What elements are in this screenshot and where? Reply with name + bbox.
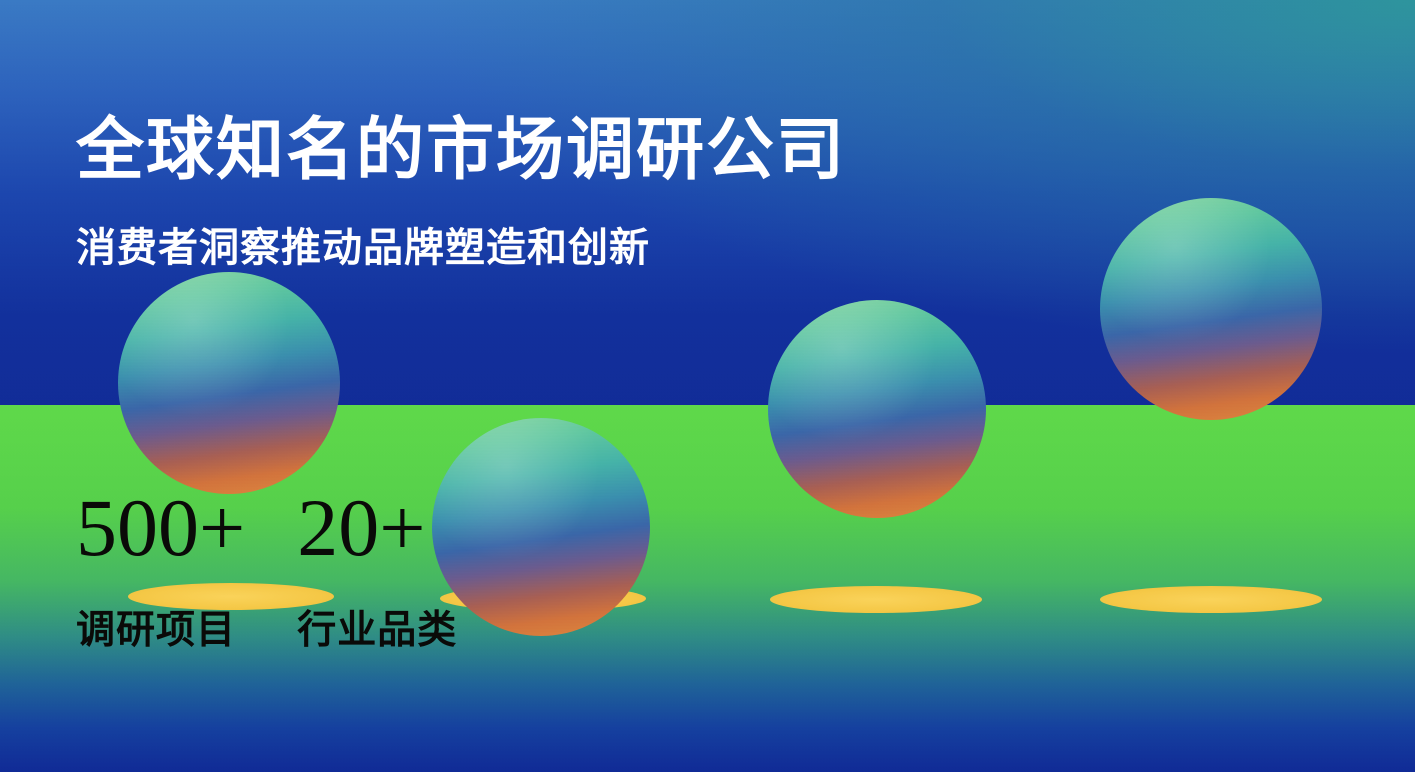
sphere-shadow-ellipse bbox=[128, 583, 334, 610]
decorative-sphere bbox=[768, 300, 986, 518]
marketing-hero-banner: 全球知名的市场调研公司 消费者洞察推动品牌塑造和创新 500+ 调研项目 20+… bbox=[0, 0, 1415, 772]
stats-group: 500+ 调研项目 20+ 行业品类 bbox=[76, 482, 426, 574]
stat-value: 500+ bbox=[76, 482, 245, 574]
decorative-sphere bbox=[1100, 198, 1322, 420]
decorative-sphere bbox=[432, 418, 650, 636]
sphere-shadow-ellipse bbox=[770, 586, 982, 613]
stat-value: 20+ bbox=[297, 482, 425, 574]
decorative-sphere bbox=[118, 272, 340, 494]
stat-label: 调研项目 bbox=[76, 608, 236, 654]
stat-label: 行业品类 bbox=[297, 608, 457, 654]
stat-item: 20+ 行业品类 bbox=[297, 482, 425, 574]
stat-item: 500+ 调研项目 bbox=[76, 482, 245, 574]
page-title: 全球知名的市场调研公司 bbox=[76, 112, 846, 188]
sphere-shadow-ellipse bbox=[1100, 586, 1322, 613]
page-subtitle: 消费者洞察推动品牌塑造和创新 bbox=[76, 223, 650, 273]
